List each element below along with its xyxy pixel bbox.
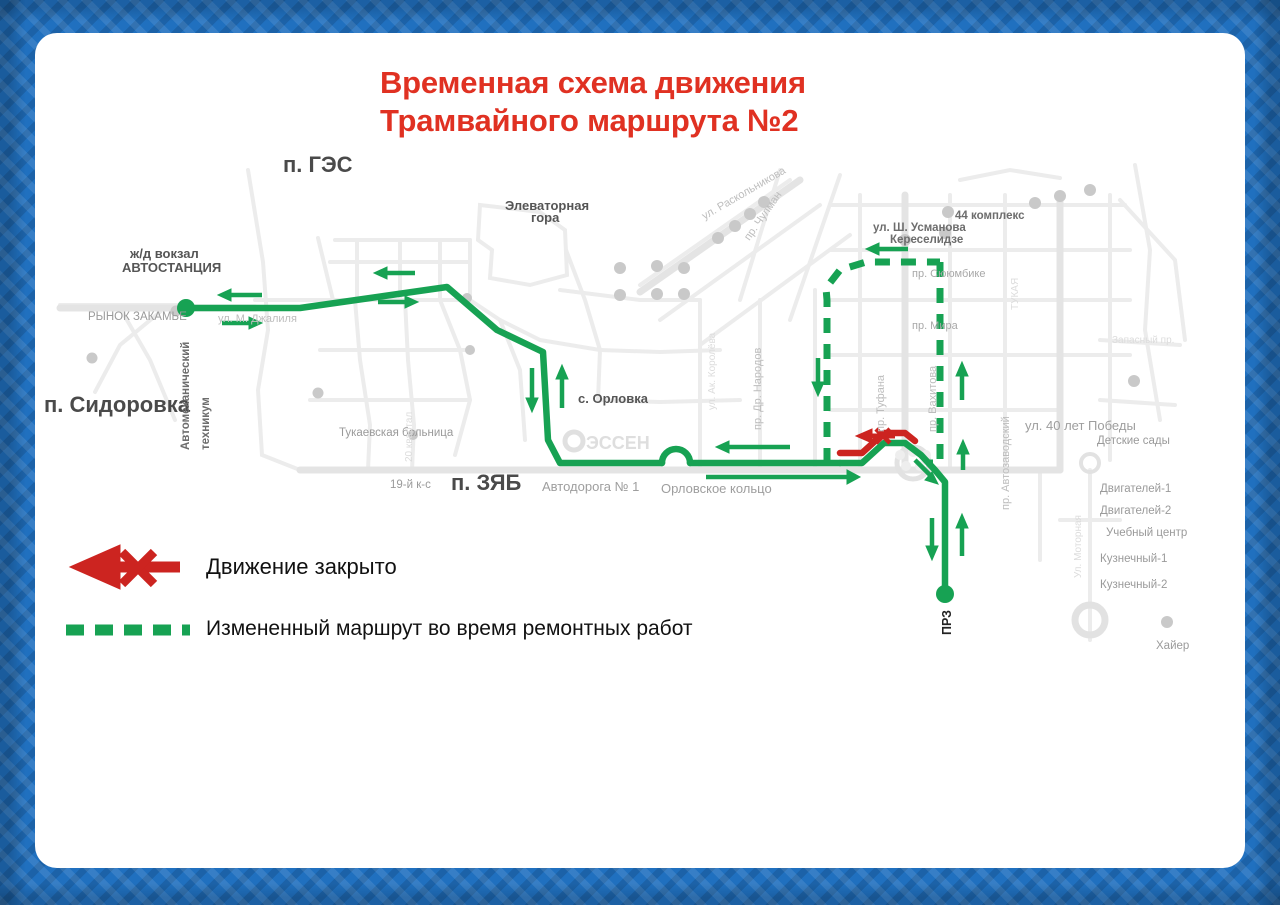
essen-logo-icon: [565, 432, 583, 450]
dashed-line-icon: [60, 606, 200, 652]
stop-label-rynok-zakame: РЫНОК ЗАКАМЬЕ: [88, 311, 187, 323]
legend-label-closed: Движение закрыто: [206, 554, 397, 580]
stop-label-kuznechny-1: Кузнечный-1: [1100, 553, 1167, 565]
street-label-ak-koroleva: ул. Ак. Королёва: [707, 333, 718, 410]
stop-label-detskie-sady: Детские сады: [1097, 435, 1170, 447]
street-label-dr-narodov: пр. Др. Народов: [752, 348, 764, 430]
district-label-zyab: п. ЗЯБ: [451, 470, 521, 496]
place-label-avtostanciya: АВТОСТАНЦИЯ: [122, 261, 221, 276]
vertical-label-avtomekhanichesky: Автомеханический: [180, 342, 192, 450]
title-line-1: Временная схема движения: [380, 65, 806, 100]
street-label-zapasny-pr: Запасный пр.: [1112, 335, 1174, 346]
street-label-40-let-pobedy: ул. 40 лет Победы: [1025, 418, 1136, 433]
legend-item-detour: Измененный маршрут во время ремонтных ра…: [60, 602, 693, 656]
brand-label-essen: ЭССЕН: [586, 433, 650, 454]
title-line-2: Трамвайного маршрута №2: [380, 102, 1020, 140]
place-label-kereselidze: Кереселидзе: [890, 234, 963, 246]
street-label-sh-usmanova: ул. Ш. Усманова: [873, 222, 966, 234]
terminal-label-prz: ПРЗ: [940, 610, 954, 635]
place-label-s-orlovka: с. Орловка: [578, 392, 648, 407]
stop-label-kuznechny-2: Кузнечный-2: [1100, 579, 1167, 591]
legend-item-closed: Движение закрыто: [60, 540, 693, 594]
street-label-tukaya: ТУКАЯ: [1010, 278, 1021, 310]
street-label-avtozavodsky: пр. Автозаводский: [1000, 416, 1012, 510]
stop-label-tukaevskaya-bolnica: Тукаевская больница: [339, 427, 453, 439]
terminal-dot-prz: [936, 585, 954, 603]
poster-root: Временная схема движения Трамвайного мар…: [0, 0, 1280, 905]
stop-label-dvigateley-2: Двигателей-2: [1100, 505, 1171, 517]
street-label-20-kvartal: 20 квартал: [404, 412, 415, 462]
poster-title: Временная схема движения Трамвайного мар…: [380, 64, 1020, 140]
stop-label-hayer: Хайер: [1156, 640, 1189, 652]
street-label-avtodoroga-1: Автодорога № 1: [542, 479, 639, 494]
street-label-dzhalilya: ул. М. Джалиля: [218, 313, 297, 325]
street-label-mira: пр. Мира: [912, 320, 958, 332]
arrow-x-icon: [60, 544, 200, 590]
legend-label-detour: Измененный маршрут во время ремонтных ра…: [206, 617, 693, 641]
street-label-vakhitova: пр. Вахитова: [927, 366, 939, 432]
place-label-44-kompleks: 44 комплекс: [955, 210, 1024, 222]
stop-label-uchebny-centr: Учебный центр: [1106, 527, 1187, 539]
place-label-orlovskoe-kolco: Орловское кольцо: [661, 481, 772, 496]
district-label-ges: п. ГЭС: [283, 152, 353, 178]
legend: Движение закрыто Измененный маршрут во в…: [60, 540, 693, 656]
place-label-gora: гора: [531, 211, 559, 226]
stop-label-19-ks: 19-й к-с: [390, 479, 431, 491]
street-label-syuyumbike: пр. Сююмбике: [912, 268, 985, 280]
stop-label-dvigateley-1: Двигателей-1: [1100, 483, 1171, 495]
vertical-label-tekhnikum: техникум: [200, 397, 212, 450]
street-label-motornaya: Ул. Моторная: [1073, 515, 1084, 578]
street-label-tufana: пр. Туфана: [875, 375, 887, 432]
orlovskoe-koltso-loop: [662, 449, 690, 463]
district-label-sidorovka: п. Сидоровка: [44, 392, 190, 418]
